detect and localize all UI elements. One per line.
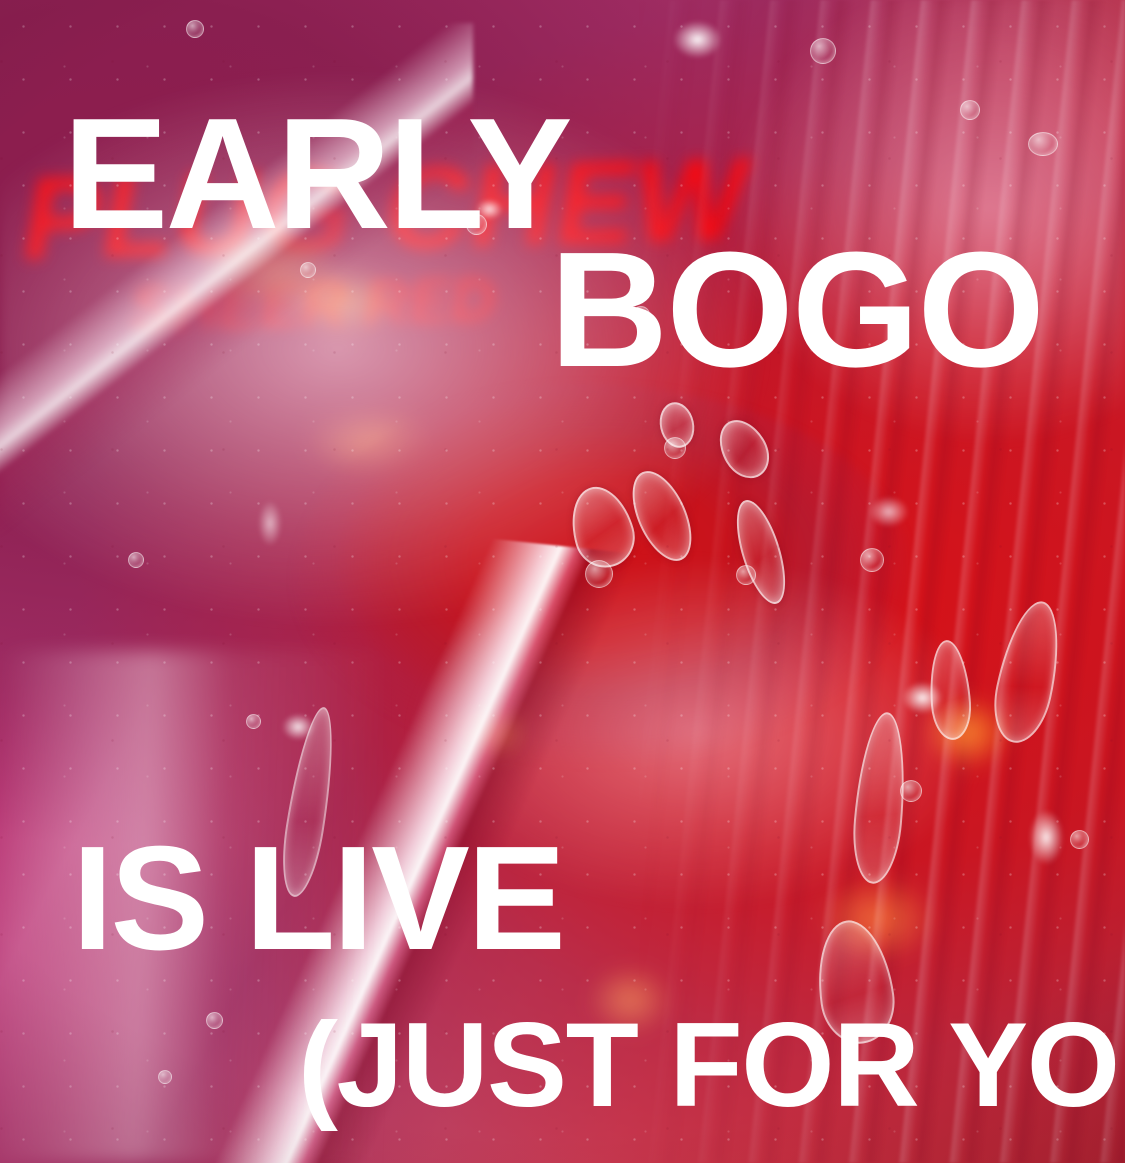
headline-line-just-for-you: (JUST FOR YOU) <box>298 1005 1125 1125</box>
headline-line-bogo: BOGO <box>550 228 1043 392</box>
headline-line-early: EARLY <box>63 95 570 253</box>
headline-group: EARLY BOGO IS LIVE (JUST FOR YOU) <box>0 0 1125 1163</box>
promo-banner: PLUG CHEW SHEER RED EARLY BOGO IS LIVE ( <box>0 0 1125 1163</box>
headline-line-is-live: IS LIVE <box>72 825 563 973</box>
